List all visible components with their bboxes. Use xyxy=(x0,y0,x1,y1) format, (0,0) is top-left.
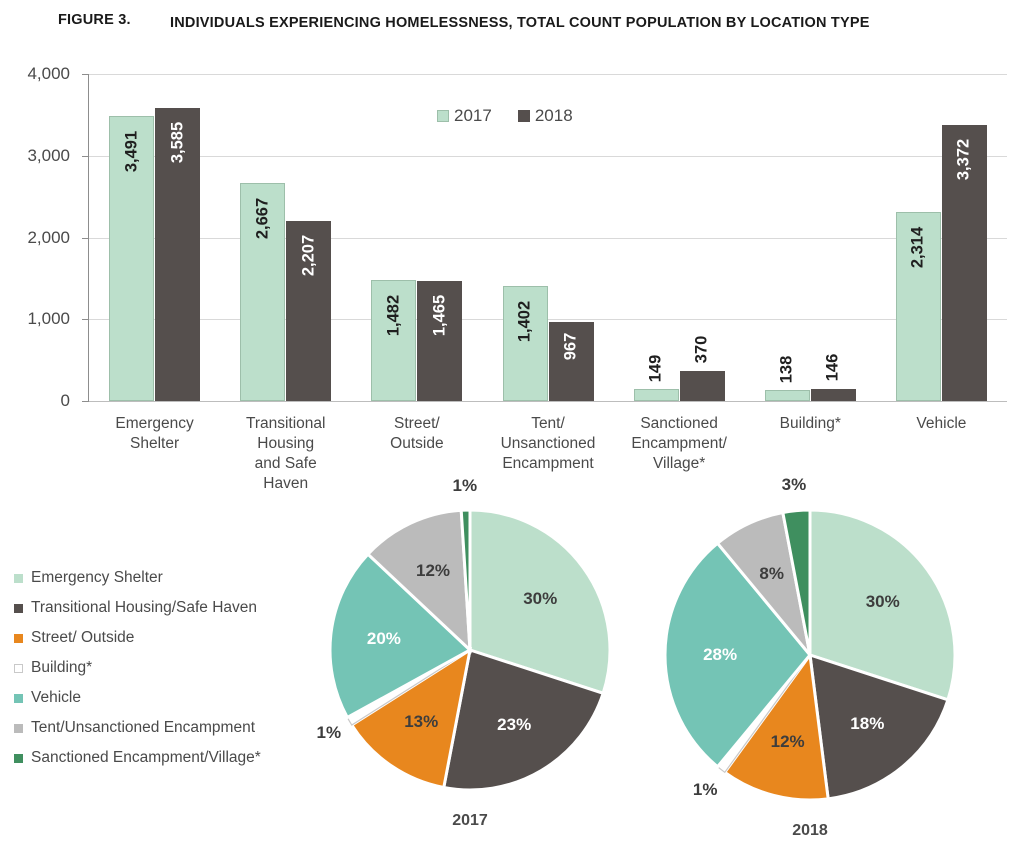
x-axis-label-line: Encampment/ xyxy=(606,434,753,454)
pie-legend-item[interactable]: Sanctioned Encampment/Village* xyxy=(14,743,324,773)
x-axis-label-line: Vehicle xyxy=(868,414,1015,434)
bar-legend-item-2017[interactable]: 2017 xyxy=(437,106,492,126)
pie-legend-label: Transitional Housing/Safe Haven xyxy=(31,599,257,617)
bar-2017-building-[interactable]: 138 xyxy=(765,390,810,401)
x-axis-label-line: Housing xyxy=(212,434,359,454)
bar-value-label: 138 xyxy=(778,355,797,383)
pie-slice-label: 13% xyxy=(404,712,438,732)
pie-chart-2018: 30%18%12%1%28%8%3%2018 xyxy=(655,500,965,850)
x-axis-label-line: Sanctioned xyxy=(606,414,753,434)
bar-2017-vehicle[interactable]: 2,314 xyxy=(896,212,941,401)
pie-legend-swatch-icon xyxy=(14,634,23,643)
bar-value-label: 2,207 xyxy=(299,234,318,275)
pie-svg xyxy=(655,500,965,810)
x-axis-label: TransitionalHousingand SafeHaven xyxy=(212,414,359,494)
x-axis-label: EmergencyShelter xyxy=(81,414,228,454)
bar-2018-transitional-housing-and-safe-haven[interactable]: 2,207 xyxy=(286,221,331,401)
bar-legend-label: 2017 xyxy=(454,106,492,126)
bar-value-label: 1,482 xyxy=(384,295,403,336)
legend-swatch-icon xyxy=(518,110,530,122)
bar-2017-emergency-shelter[interactable]: 3,491 xyxy=(109,116,154,401)
pie-legend-item[interactable]: Street/ Outside xyxy=(14,623,324,653)
y-axis-labels: 01,0002,0003,0004,000 xyxy=(0,74,80,401)
y-axis-tick xyxy=(82,74,89,75)
bar-group: 2,3143,372 xyxy=(896,74,987,401)
bar-legend-label: 2018 xyxy=(535,106,573,126)
bar-chart: 01,0002,0003,0004,000 3,4913,585Emergenc… xyxy=(0,66,1024,486)
x-axis-label-line: Transitional xyxy=(212,414,359,434)
y-axis-tick xyxy=(82,156,89,157)
x-axis-label: Building* xyxy=(737,414,884,434)
x-axis-label-line: Unsanctioned xyxy=(474,434,621,454)
bar-value-label: 2,667 xyxy=(253,198,272,239)
bar-2018-sanctioned-encampment-village-[interactable]: 370 xyxy=(680,371,725,401)
pie-chart-2017: 30%23%13%1%20%12%1%2017 xyxy=(320,500,620,850)
bar-2018-building-[interactable]: 146 xyxy=(811,389,856,401)
pie-slice-label: 12% xyxy=(416,561,450,581)
pie-slice-label: 28% xyxy=(703,645,737,665)
pie-legend: Emergency ShelterTransitional Housing/Sa… xyxy=(14,563,324,773)
pie-legend-swatch-icon xyxy=(14,754,23,763)
y-axis-tick xyxy=(82,238,89,239)
bar-2017-street-outside[interactable]: 1,482 xyxy=(371,280,416,401)
y-axis-tick-label: 0 xyxy=(61,391,70,411)
bar-2017-transitional-housing-and-safe-haven[interactable]: 2,667 xyxy=(240,183,285,401)
bar-2018-street-outside[interactable]: 1,465 xyxy=(417,281,462,401)
pie-legend-swatch-icon xyxy=(14,604,23,613)
bar-group: 138146 xyxy=(765,74,856,401)
bar-value-label: 967 xyxy=(562,333,581,361)
pie-slice-label: 8% xyxy=(759,564,784,584)
bar-2017-sanctioned-encampment-village-[interactable]: 149 xyxy=(634,389,679,401)
legend-swatch-icon xyxy=(437,110,449,122)
bar-value-label: 146 xyxy=(824,354,843,382)
pie-slice-label: 1% xyxy=(317,723,342,743)
bar-2018-emergency-shelter[interactable]: 3,585 xyxy=(155,108,200,401)
pie-legend-label: Vehicle xyxy=(31,689,81,707)
pie-legend-swatch-icon xyxy=(14,724,23,733)
x-axis-label-line: Haven xyxy=(212,474,359,494)
pie-slice-label: 1% xyxy=(453,476,478,496)
pie-slice-label: 12% xyxy=(771,732,805,752)
bar-2018-vehicle[interactable]: 3,372 xyxy=(942,125,987,401)
pie-legend-item[interactable]: Emergency Shelter xyxy=(14,563,324,593)
y-axis-tick-label: 3,000 xyxy=(27,146,70,166)
figure-title: FIGURE 3. INDIVIDUALS EXPERIENCING HOMEL… xyxy=(58,12,958,34)
figure-title-text: INDIVIDUALS EXPERIENCING HOMELESSNESS, T… xyxy=(170,12,870,34)
bar-legend-item-2018[interactable]: 2018 xyxy=(518,106,573,126)
pie-legend-label: Building* xyxy=(31,659,92,677)
bar-value-label: 149 xyxy=(647,355,666,383)
pie-slice-label: 30% xyxy=(523,589,557,609)
x-axis-label-line: Tent/ xyxy=(474,414,621,434)
bar-value-label: 3,585 xyxy=(168,122,187,163)
pie-slice-label: 20% xyxy=(367,629,401,649)
bar-value-label: 1,465 xyxy=(430,295,449,336)
bar-chart-legend: 20172018 xyxy=(437,106,573,126)
bar-2018-tent-unsanctioned-encampment[interactable]: 967 xyxy=(549,322,594,401)
bar-group: 2,6672,207 xyxy=(240,74,331,401)
pie-slice-label: 1% xyxy=(693,780,718,800)
gridline xyxy=(89,401,1007,402)
pie-slice-label: 30% xyxy=(866,592,900,612)
figure-number: FIGURE 3. xyxy=(58,12,170,28)
x-axis-label: Vehicle xyxy=(868,414,1015,434)
pie-legend-label: Street/ Outside xyxy=(31,629,134,647)
pie-legend-swatch-icon xyxy=(14,574,23,583)
x-axis-label-line: Shelter xyxy=(81,434,228,454)
pie-legend-label: Emergency Shelter xyxy=(31,569,163,587)
y-axis-tick xyxy=(82,319,89,320)
pie-svg xyxy=(320,500,620,800)
y-axis-tick-label: 2,000 xyxy=(27,228,70,248)
pie-legend-swatch-icon xyxy=(14,694,23,703)
bar-value-label: 370 xyxy=(693,336,712,364)
x-axis-label-line: Building* xyxy=(737,414,884,434)
bar-value-label: 3,491 xyxy=(122,130,141,171)
pie-caption: 2018 xyxy=(655,822,965,840)
y-axis-tick-label: 4,000 xyxy=(27,64,70,84)
x-axis-label-line: Village* xyxy=(606,454,753,474)
x-axis-label: Tent/UnsanctionedEncampment xyxy=(474,414,621,474)
x-axis-label-line: and Safe xyxy=(212,454,359,474)
pie-slice-label: 23% xyxy=(497,715,531,735)
pie-legend-item[interactable]: Transitional Housing/Safe Haven xyxy=(14,593,324,623)
pie-slice-label: 3% xyxy=(782,475,807,495)
pie-caption: 2017 xyxy=(320,812,620,830)
bar-value-label: 2,314 xyxy=(909,227,928,268)
y-axis-tick-label: 1,000 xyxy=(27,309,70,329)
bar-value-label: 1,402 xyxy=(516,301,535,342)
x-axis-label-line: Emergency xyxy=(81,414,228,434)
y-axis-tick xyxy=(82,401,89,402)
pie-slice-label: 18% xyxy=(850,714,884,734)
pie-legend-label: Sanctioned Encampment/Village* xyxy=(31,749,261,767)
x-axis-label-line: Encampment xyxy=(474,454,621,474)
pie-legend-label: Tent/Unsanctioned Encampment xyxy=(31,719,255,737)
x-axis-label-line: Street/ xyxy=(343,414,490,434)
x-axis-label-line: Outside xyxy=(343,434,490,454)
pie-legend-item[interactable]: Vehicle xyxy=(14,683,324,713)
bar-2017-tent-unsanctioned-encampment[interactable]: 1,402 xyxy=(503,286,548,401)
bar-group: 149370 xyxy=(634,74,725,401)
x-axis-label: Street/Outside xyxy=(343,414,490,454)
pie-legend-swatch-icon xyxy=(14,664,23,673)
pie-legend-item[interactable]: Tent/Unsanctioned Encampment xyxy=(14,713,324,743)
pie-legend-item[interactable]: Building* xyxy=(14,653,324,683)
bar-group: 3,4913,585 xyxy=(109,74,200,401)
bar-value-label: 3,372 xyxy=(955,139,974,180)
x-axis-label: SanctionedEncampment/Village* xyxy=(606,414,753,474)
